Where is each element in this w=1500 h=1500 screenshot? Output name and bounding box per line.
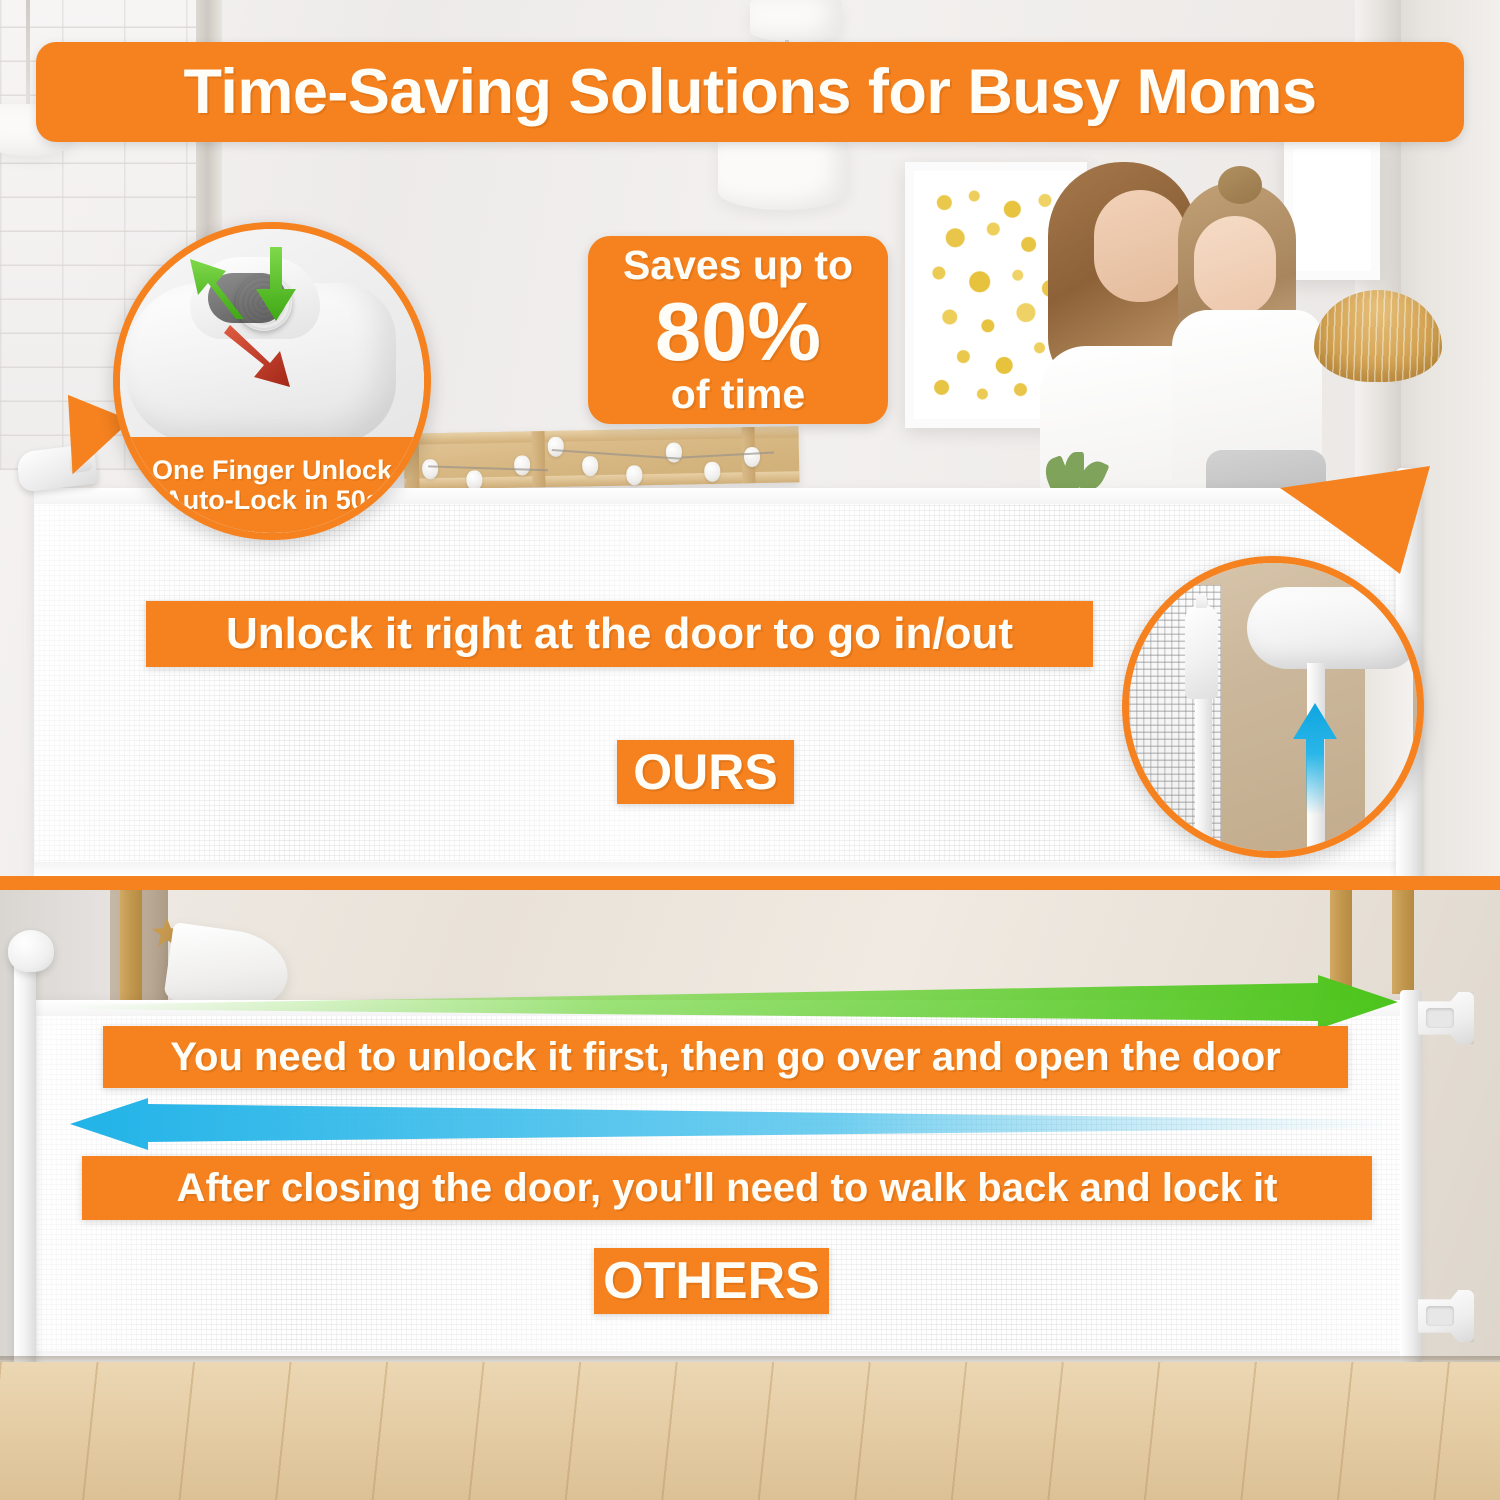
callout-left-caption: One Finger Unlock Auto-Lock in 50s — [120, 437, 424, 533]
label-ours: OURS — [617, 740, 794, 804]
callout-right-lock-head — [1247, 587, 1417, 669]
section-divider — [0, 876, 1500, 890]
green-right-arrow-icon — [68, 975, 1398, 1029]
badge-percentage: 80% — [655, 290, 821, 373]
gate-roller-cap — [8, 930, 54, 972]
cyan-left-arrow-icon — [70, 1098, 1390, 1150]
string-light-wire — [682, 451, 774, 457]
child-topknot — [1218, 166, 1262, 204]
blue-up-arrow-icon — [1293, 703, 1337, 815]
shelf-post-mid — [531, 431, 545, 487]
badge-line-1: Saves up to — [623, 244, 853, 287]
label-ours-text: OURS — [633, 743, 777, 801]
callout-right-photo — [1129, 563, 1417, 851]
pendant-lamp-2 — [718, 138, 848, 210]
string-light-wire — [552, 449, 682, 459]
string-light-bulb — [514, 455, 530, 475]
string-light-bulb — [422, 459, 438, 479]
callout-left-one-finger-unlock: One Finger Unlock Auto-Lock in 50s — [113, 222, 431, 540]
pendant-cord-3 — [26, 0, 30, 110]
header-banner: Time-Saving Solutions for Busy Moms — [36, 42, 1464, 142]
pendant-lamp-1 — [750, 0, 842, 42]
callout-right-latch-detail — [1122, 556, 1424, 858]
string-light-bulb — [582, 456, 598, 476]
green-down-arrow-icon — [256, 247, 296, 321]
callout-left-caption-line1: One Finger Unlock — [152, 455, 392, 485]
banner-unlock-at-door-text: Unlock it right at the door to go in/out — [226, 609, 1013, 659]
page-title: Time-Saving Solutions for Busy Moms — [184, 56, 1317, 128]
callout-right-latch-cap — [1185, 605, 1218, 699]
callout-left-caption-line2: Auto-Lock in 50s — [163, 485, 381, 515]
banner-walk-back-lock-text: After closing the door, you'll need to w… — [177, 1166, 1278, 1211]
string-light-bulb — [548, 437, 564, 457]
banner-unlock-first: You need to unlock it first, then go ove… — [103, 1026, 1348, 1088]
mother-face — [1094, 190, 1186, 302]
mother-and-child-photo — [1030, 150, 1330, 500]
badge-line-3: of time — [671, 373, 805, 416]
label-others-text: OTHERS — [603, 1251, 820, 1311]
child-face — [1194, 216, 1276, 316]
banner-unlock-first-text: You need to unlock it first, then go ove… — [170, 1035, 1280, 1080]
banner-walk-back-lock: After closing the door, you'll need to w… — [82, 1156, 1372, 1220]
mesh-bottom-band — [34, 862, 1412, 876]
wood-floor — [0, 1362, 1500, 1500]
wooden-wall-shelf — [403, 426, 799, 490]
string-light-bulb — [666, 442, 682, 462]
product-infographic: Time-Saving Solutions for Busy Moms Save… — [0, 0, 1500, 1500]
red-down-arrow-icon — [224, 325, 290, 387]
string-light-bulb — [744, 447, 760, 467]
label-others: OTHERS — [594, 1248, 829, 1314]
gate-roller-post-left — [14, 955, 36, 1385]
green-up-arrow-icon — [190, 259, 244, 319]
savings-badge: Saves up to 80% of time — [588, 236, 888, 424]
banner-unlock-at-door: Unlock it right at the door to go in/out — [146, 601, 1093, 667]
